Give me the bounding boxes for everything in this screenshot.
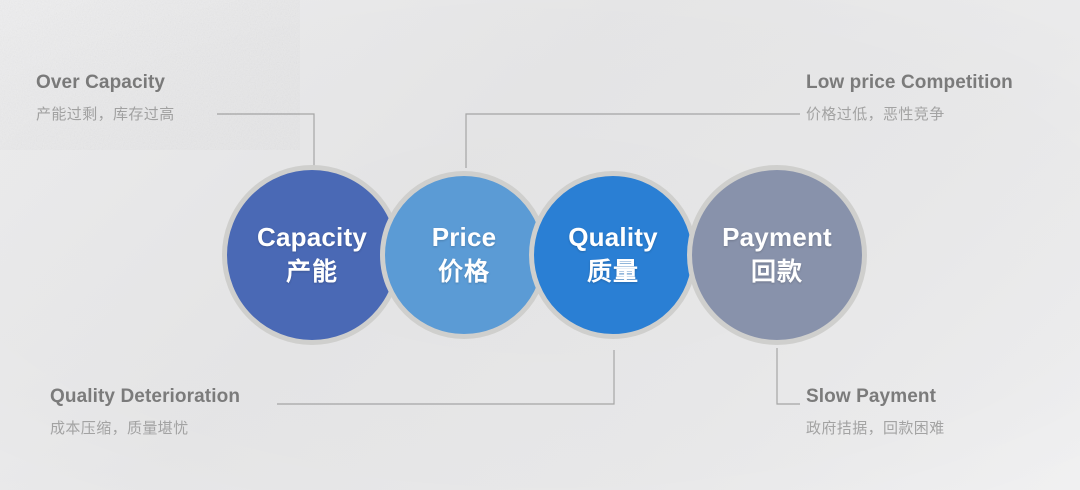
node-quality-chinese: 质量	[587, 259, 639, 287]
label-over-capacity: Over Capacity 产能过剩，库存过高	[36, 72, 175, 124]
label-low-price-competition-subtitle: 价格过低，恶性竞争	[806, 103, 1013, 124]
label-quality-deterioration-subtitle: 成本压缩，质量堪忧	[50, 417, 240, 438]
label-quality-deterioration: Quality Deterioration 成本压缩，质量堪忧	[50, 386, 240, 438]
node-capacity-chinese: 产能	[286, 259, 338, 287]
label-low-price-competition-title: Low price Competition	[806, 72, 1013, 94]
label-over-capacity-title: Over Capacity	[36, 72, 175, 94]
node-quality-english: Quality	[568, 224, 658, 251]
label-slow-payment-subtitle: 政府拮据，回款困难	[806, 417, 945, 438]
label-slow-payment: Slow Payment 政府拮据，回款困难	[806, 386, 945, 438]
connector-slow-payment	[777, 348, 800, 404]
node-price[interactable]: Price 价格	[380, 171, 548, 339]
node-price-chinese: 价格	[438, 259, 490, 287]
label-over-capacity-subtitle: 产能过剩，库存过高	[36, 103, 175, 124]
connector-quality-deterioration	[277, 350, 614, 404]
diagram-canvas: Capacity 产能 Price 价格 Quality 质量 Payment …	[0, 0, 1080, 490]
node-quality[interactable]: Quality 质量	[529, 171, 697, 339]
node-capacity-english: Capacity	[257, 224, 367, 251]
label-quality-deterioration-title: Quality Deterioration	[50, 386, 240, 408]
node-payment-chinese: 回款	[751, 259, 803, 287]
node-payment[interactable]: Payment 回款	[687, 165, 867, 345]
node-payment-english: Payment	[722, 224, 832, 251]
label-slow-payment-title: Slow Payment	[806, 386, 945, 408]
connector-low-price-competition	[466, 114, 800, 168]
node-price-english: Price	[432, 224, 497, 251]
label-low-price-competition: Low price Competition 价格过低，恶性竞争	[806, 72, 1013, 124]
node-capacity[interactable]: Capacity 产能	[222, 165, 402, 345]
